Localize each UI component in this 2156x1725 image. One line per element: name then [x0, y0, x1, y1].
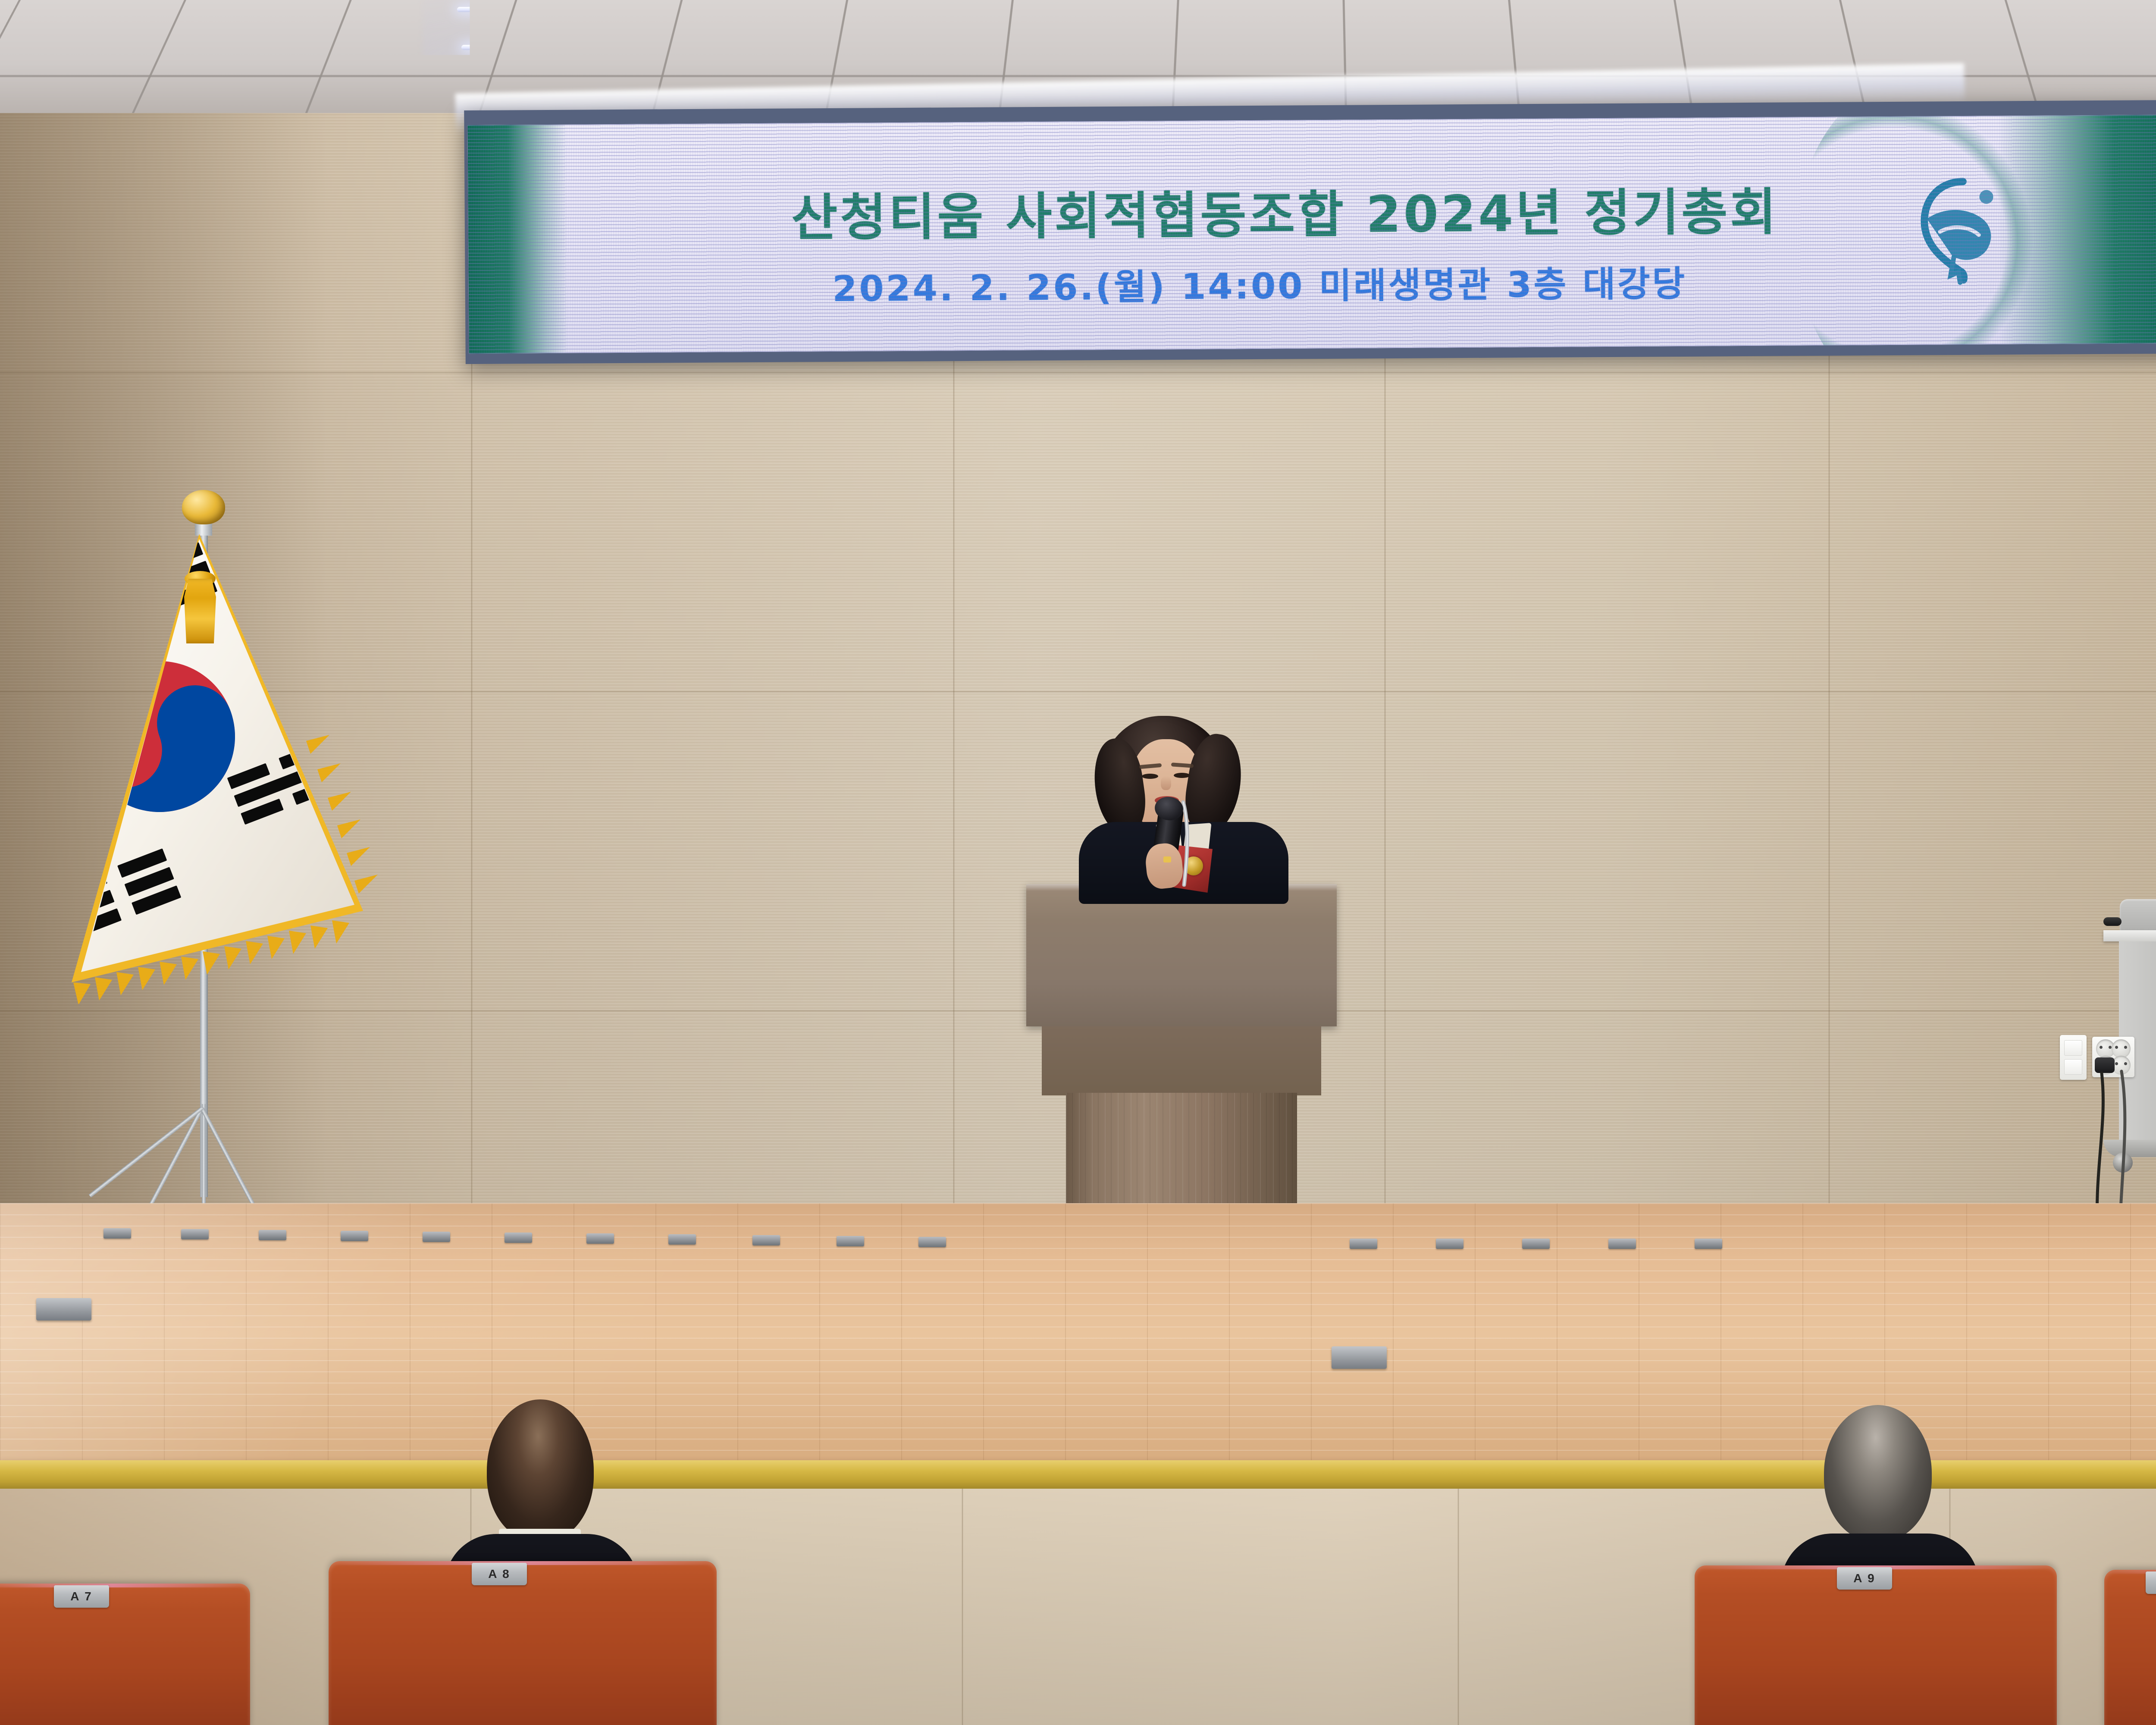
speaker-eye-left: [1142, 774, 1158, 779]
ceiling-light-strip: [461, 45, 1988, 50]
ceiling-teal-reflection: [1970, 8, 1981, 13]
floor-service-port: [1350, 1239, 1377, 1249]
seat-number-plate: A 8: [472, 1563, 527, 1585]
audience-chair[interactable]: A 8: [329, 1561, 717, 1725]
speaker-nose: [1161, 776, 1171, 790]
cart-worktop: [2103, 930, 2156, 941]
flag-finial-icon: [182, 490, 225, 524]
floor-service-port: [918, 1237, 946, 1247]
floor-service-port: [341, 1231, 368, 1241]
ceiling-teal-reflection: [471, 6, 482, 11]
korean-flag: [30, 534, 384, 1004]
lectern-midsection: [1042, 1026, 1321, 1095]
floor-service-port: [1436, 1239, 1463, 1249]
floor-service-port: [505, 1233, 532, 1243]
led-banner-screen: 산청티움 사회적협동조합 2024년 정기총회 2024. 2. 26.(월) …: [467, 115, 2156, 354]
cart-knob-icon[interactable]: [2103, 917, 2122, 926]
seat-number-plate: A 9: [1837, 1567, 1892, 1590]
seat-number-plate: A 10: [2146, 1571, 2156, 1594]
audience-chair[interactable]: A 10: [2104, 1570, 2156, 1725]
tripod-leg: [89, 1107, 204, 1197]
light-switch-rocker-top[interactable]: [2064, 1040, 2082, 1056]
floor-service-port: [752, 1235, 780, 1245]
lectern-top: [1026, 884, 1337, 1026]
riser-seam: [962, 1489, 963, 1725]
stage-floor-plate: [36, 1298, 91, 1320]
floor-service-port: [1695, 1239, 1722, 1249]
ceiling-teal-reflection: [476, 44, 487, 49]
audience-head: [487, 1399, 594, 1542]
ceiling-teal-reflection: [482, 82, 493, 87]
audience-head: [1824, 1405, 1932, 1541]
podium-speaker: [1082, 716, 1285, 897]
flag-tassel-icon: [182, 579, 218, 643]
flag-assembly: [26, 487, 397, 1307]
floor-service-port: [1608, 1239, 1636, 1249]
floor-service-port: [837, 1236, 864, 1246]
auditorium-photo: 산청티움 사회적협동조합 2024년 정기총회 2024. 2. 26.(월) …: [0, 0, 2156, 1725]
ceiling-teal-reflection: [1975, 46, 1986, 50]
speaker-ring-icon: [1163, 856, 1171, 862]
ceiling-teal-reflection: [1980, 83, 1991, 88]
floor-service-port: [423, 1232, 450, 1242]
audience-chair[interactable]: A 7: [0, 1584, 250, 1725]
speaker-eye-right: [1174, 773, 1190, 778]
chair-top-edge: [0, 1584, 250, 1587]
ceiling-light-strip: [457, 7, 1992, 12]
led-banner[interactable]: 산청티움 사회적협동조합 2024년 정기총회 2024. 2. 26.(월) …: [464, 100, 2156, 364]
cooperative-logo-icon: [1898, 166, 2028, 297]
seat-number-plate: A 7: [54, 1585, 109, 1608]
floor-service-port: [1522, 1239, 1550, 1249]
riser-seam: [1457, 1489, 1459, 1725]
floor-service-port: [586, 1233, 614, 1244]
floor-service-port: [103, 1228, 131, 1239]
floor-service-port: [668, 1234, 696, 1245]
floor-service-port: [181, 1229, 209, 1239]
stage-floor-plate: [1332, 1346, 1387, 1369]
floor-service-port: [259, 1230, 286, 1240]
audience-chair[interactable]: A 9: [1695, 1565, 2057, 1725]
